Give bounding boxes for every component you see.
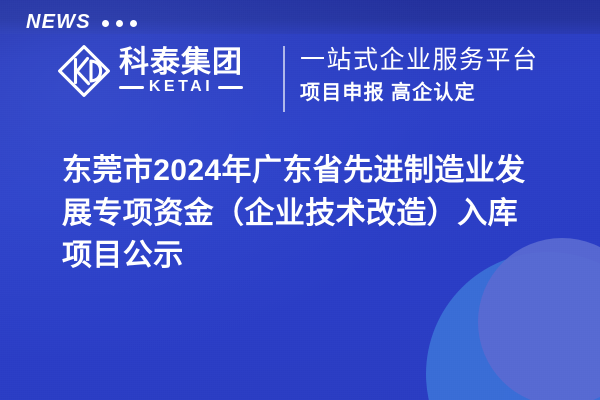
wordmark-rule-right — [218, 86, 243, 89]
ketai-diamond-kd-logo-icon — [55, 42, 113, 100]
eyebrow-dot — [116, 20, 123, 27]
eyebrow-dot — [102, 20, 109, 27]
brand-name-en-row: KETAI — [119, 79, 243, 95]
eyebrow-dots-icon — [102, 18, 137, 27]
brand-lockup: 科泰集团 KETAI — [55, 42, 243, 100]
tagline-primary: 一站式企业服务平台 — [300, 45, 539, 76]
brand-wordmark: 科泰集团 KETAI — [119, 47, 243, 96]
tagline: 一站式企业服务平台 项目申报 高企认定 — [300, 45, 539, 105]
eyebrow-dot — [130, 20, 137, 27]
brand-name-cn: 科泰集团 — [119, 47, 243, 79]
eyebrow-label: NEWS — [26, 12, 91, 32]
brand-name-en: KETAI — [149, 79, 213, 95]
tagline-secondary: 项目申报 高企认定 — [300, 81, 539, 105]
news-banner: NEWS 科泰集团 KETAI — [0, 0, 600, 400]
lockup-divider — [283, 46, 285, 112]
wordmark-rule-left — [119, 86, 144, 89]
eyebrow: NEWS — [26, 12, 137, 32]
headline-title: 东莞市2024年广东省先进制造业发展专项资金（企业技术改造）入库项目公示 — [62, 150, 548, 278]
